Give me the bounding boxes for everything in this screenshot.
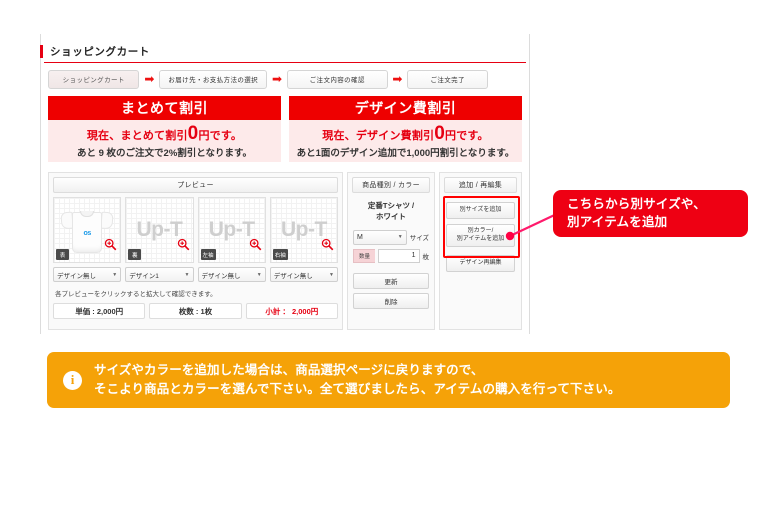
unit-price: 単価 : 2,000円 [53, 303, 145, 319]
bulk-discount-body: 現在、まとめて割引 0 円です。 あと 9 枚のご注文で2%割引となります。 [48, 120, 281, 162]
bulk-discount-banner: まとめて割引 現在、まとめて割引 0 円です。 あと 9 枚のご注文で2%割引と… [48, 96, 281, 162]
breadcrumb: ショッピングカート ➡ お届け先・お支払方法の選択 ➡ ご注文内容の確認 ➡ ご… [48, 69, 488, 89]
product-name-line2: ホワイト [353, 212, 429, 223]
bulk-discount-amount-line: 現在、まとめて割引 0 円です。 [87, 124, 242, 143]
zoom-in-icon[interactable] [104, 238, 117, 251]
step-arrow-icon: ➡ [267, 73, 287, 85]
tshirt-right-sleeve [101, 212, 114, 230]
design-select-front[interactable]: デザイン無し ▼ [53, 267, 121, 282]
size-select[interactable]: M ▼ [353, 230, 407, 245]
callout-tooltip: こちらから別サイズや、 別アイテムを追加 [553, 190, 748, 237]
design-fee-suffix: 円です。 [445, 127, 489, 143]
preview-thumb-front[interactable]: os 表 [53, 197, 121, 263]
add-color-item-line1: 別カラー/ [457, 227, 504, 235]
discount-banners: まとめて割引 現在、まとめて割引 0 円です。 あと 9 枚のご注文で2%割引と… [48, 96, 522, 162]
chevron-down-icon: ▼ [185, 272, 190, 278]
design-select-left-sleeve-value: デザイン無し [202, 270, 241, 280]
quantity-input[interactable]: 1 [378, 249, 420, 263]
product-name: 定番Tシャツ / ホワイト [353, 201, 429, 223]
design-select-right-sleeve[interactable]: デザイン無し ▼ [270, 267, 338, 282]
step-order-confirm[interactable]: ご注文内容の確認 [287, 70, 388, 89]
redesign-button[interactable]: デザイン再編集 [446, 255, 515, 272]
product-header: 商品種別 / カラー [352, 177, 430, 193]
zoom-in-icon[interactable] [321, 238, 334, 251]
design-fee-note: あと1面のデザイン追加で1,000円割引となります。 [297, 145, 515, 159]
delete-button[interactable]: 削除 [353, 293, 429, 309]
title-underline [44, 62, 526, 63]
design-fee-amount: 0 [434, 124, 445, 143]
quantity-unit: 枚 [423, 251, 430, 261]
preview-note: 各プレビューをクリックすると拡大して確認できます。 [55, 288, 342, 298]
step-arrow-icon: ➡ [388, 73, 408, 85]
add-color-item-line2: 別アイテムを追加 [457, 235, 504, 243]
zoom-in-icon[interactable] [249, 238, 262, 251]
thumb-badge-back: 裏 [128, 249, 141, 260]
product-name-line1: 定番Tシャツ / [353, 201, 429, 212]
callout-line1: こちらから別サイズや、 [567, 196, 748, 214]
product-panel: 商品種別 / カラー 定番Tシャツ / ホワイト M ▼ サイズ 数量 1 枚 … [347, 172, 435, 330]
add-panel-header: 追加 / 再編集 [444, 177, 517, 193]
callout-line2: 別アイテムを追加 [567, 214, 748, 232]
notice-line2: そこより商品とカラーを選んで下さい。全て選びましたら、アイテムの購入を行って下さ… [94, 380, 620, 399]
thumb-badge-right-sleeve: 右袖 [273, 249, 288, 260]
step-shipping-payment[interactable]: お届け先・お支払方法の選択 [159, 70, 267, 89]
step-order-complete[interactable]: ご注文完了 [407, 70, 488, 89]
bulk-discount-prefix: 現在、まとめて割引 [87, 127, 188, 143]
chevron-down-icon: ▼ [329, 272, 334, 278]
bulk-discount-amount: 0 [188, 124, 199, 143]
step-cart[interactable]: ショッピングカート [48, 70, 139, 89]
design-fee-discount-body: 現在、デザイン費割引 0 円です。 あと1面のデザイン追加で1,000円割引とな… [289, 120, 522, 162]
design-select-back-value: デザイン1 [129, 270, 159, 280]
size-select-value: M [357, 234, 363, 241]
chevron-down-icon: ▼ [257, 272, 262, 278]
design-select-front-value: デザイン無し [57, 270, 96, 280]
size-label: サイズ [410, 232, 429, 242]
bulk-discount-note: あと 9 枚のご注文で2%割引となります。 [77, 145, 252, 159]
design-select-back[interactable]: デザイン1 ▼ [125, 267, 193, 282]
tshirt-design-logo: os [84, 230, 91, 237]
design-fee-amount-line: 現在、デザイン費割引 0 円です。 [322, 124, 488, 143]
price-summary: 単価 : 2,000円 枚数 : 1枚 小計 ： 2,000円 [53, 303, 338, 319]
page-title: ショッピングカート [40, 40, 530, 62]
quantity-row: 数量 1 枚 [353, 249, 429, 263]
bulk-discount-heading: まとめて割引 [48, 96, 281, 120]
design-fee-prefix: 現在、デザイン費割引 [322, 127, 434, 143]
update-button[interactable]: 更新 [353, 273, 429, 289]
preview-panel: プレビュー os 表 Up-T 裏 [48, 172, 343, 330]
add-panel: 追加 / 再編集 別サイズを追加 別カラー/ 別アイテムを追加 デザイン再編集 [439, 172, 522, 330]
chevron-down-icon: ▼ [112, 272, 117, 278]
design-fee-discount-heading: デザイン費割引 [289, 96, 522, 120]
design-select-left-sleeve[interactable]: デザイン無し ▼ [198, 267, 266, 282]
notice-text: サイズやカラーを追加した場合は、商品選択ページに戻りますので、 そこより商品とカ… [94, 361, 620, 400]
design-fee-discount-banner: デザイン費割引 現在、デザイン費割引 0 円です。 あと1面のデザイン追加で1,… [289, 96, 522, 162]
preview-thumbnails: os 表 Up-T 裏 Up-T 左袖 [53, 197, 338, 263]
quantity-count: 枚数 : 1枚 [149, 303, 241, 319]
design-select-right-sleeve-value: デザイン無し [274, 270, 313, 280]
quantity-label: 数量 [353, 249, 375, 263]
thumb-badge-front: 表 [56, 249, 69, 260]
design-select-row: デザイン無し ▼ デザイン1 ▼ デザイン無し ▼ デザイン無し ▼ [53, 267, 338, 282]
subtotal-price: 小計 ： 2,000円 [246, 303, 338, 319]
page-title-text: ショッピングカート [50, 44, 150, 59]
preview-thumb-right-sleeve[interactable]: Up-T 右袖 [270, 197, 338, 263]
preview-header: プレビュー [53, 177, 338, 193]
notice-line1: サイズやカラーを追加した場合は、商品選択ページに戻りますので、 [94, 361, 620, 380]
title-accent-bar [40, 45, 43, 58]
chevron-down-icon: ▼ [398, 234, 403, 240]
zoom-in-icon[interactable] [177, 238, 190, 251]
info-notice: i サイズやカラーを追加した場合は、商品選択ページに戻りますので、 そこより商品… [47, 352, 730, 408]
info-icon: i [63, 371, 82, 390]
size-row: M ▼ サイズ [353, 230, 429, 245]
preview-thumb-back[interactable]: Up-T 裏 [125, 197, 193, 263]
preview-thumb-left-sleeve[interactable]: Up-T 左袖 [198, 197, 266, 263]
thumb-badge-left-sleeve: 左袖 [201, 249, 216, 260]
cart-body: プレビュー os 表 Up-T 裏 [48, 172, 522, 330]
bulk-discount-suffix: 円です。 [198, 127, 242, 143]
step-arrow-icon: ➡ [139, 73, 159, 85]
